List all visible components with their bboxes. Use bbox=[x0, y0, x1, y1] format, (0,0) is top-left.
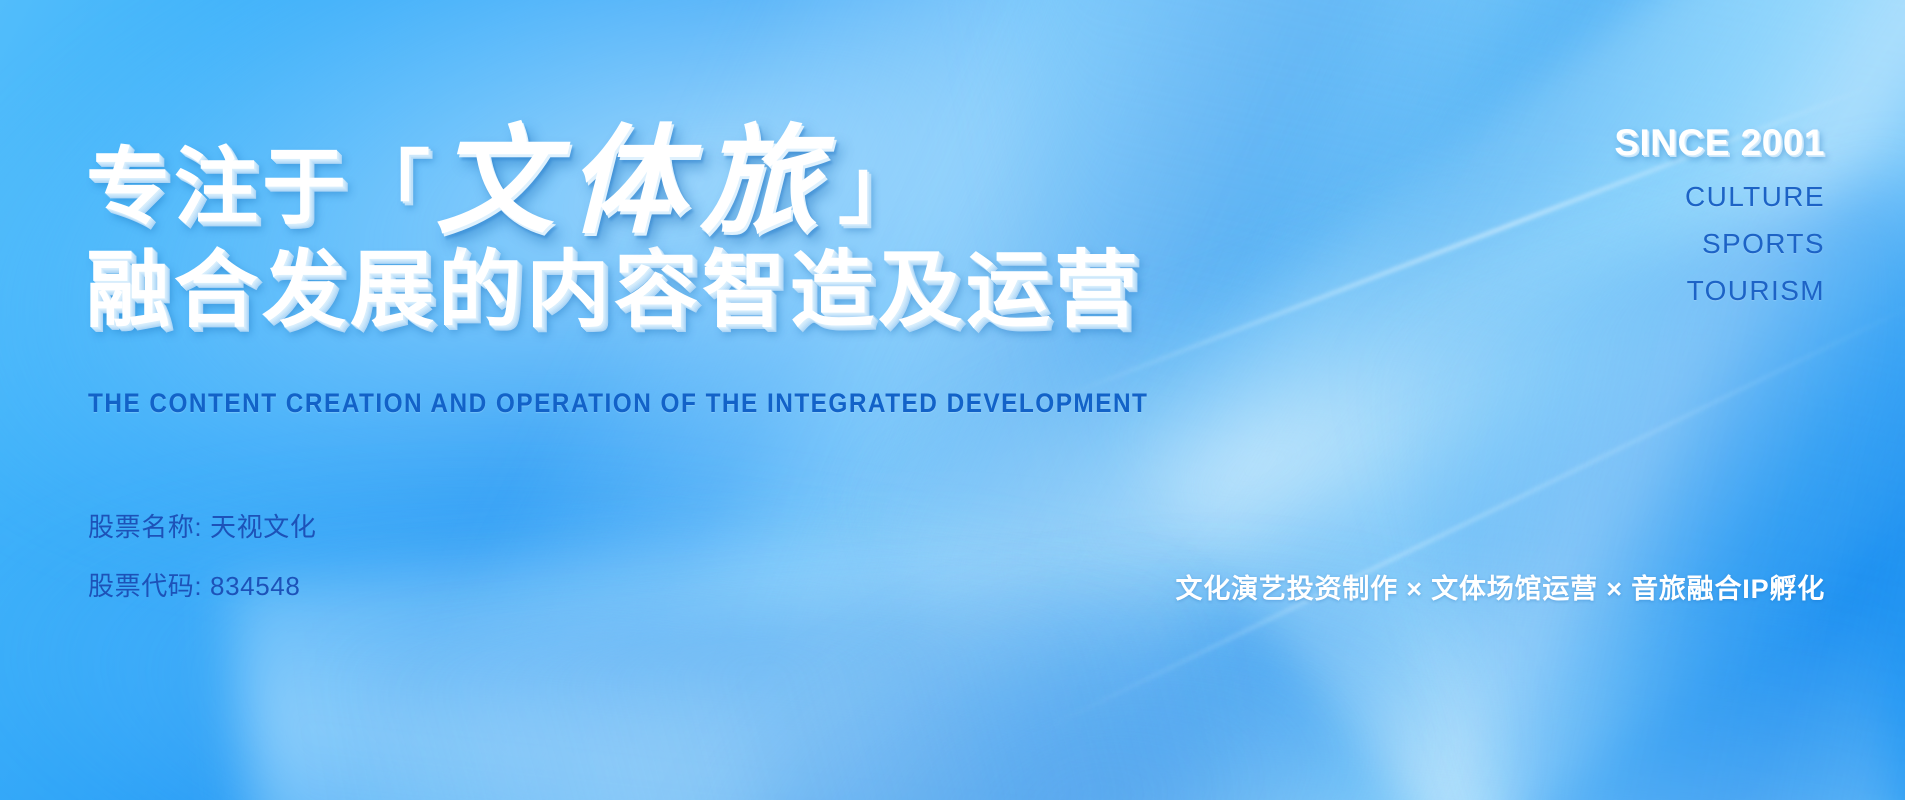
headline-prefix: 专注于 bbox=[86, 145, 350, 229]
stock-name-line: 股票名称: 天视文化 bbox=[88, 507, 316, 544]
headline-brush-keyword: 文体旅 bbox=[436, 124, 832, 242]
background-wave-hairline-2 bbox=[1040, 295, 1905, 732]
headline-bracket-open: 「 bbox=[350, 149, 430, 229]
headline-bracket-close: 」 bbox=[838, 149, 918, 229]
stock-info-block: 股票名称: 天视文化 股票代码: 834548 bbox=[88, 507, 316, 603]
background-wave-sweep-low-2 bbox=[229, 413, 1905, 800]
keyword-culture: CULTURE bbox=[1614, 181, 1825, 213]
business-tagline: 文化演艺投资制作 × 文体场馆运营 × 音旅融合IP孵化 bbox=[1176, 567, 1825, 606]
background-wave-fold-c bbox=[1105, 0, 1905, 800]
since-label: SINCE 2001 bbox=[1614, 122, 1825, 164]
stock-code-line: 股票代码: 834548 bbox=[88, 566, 316, 603]
keyword-sports: SPORTS bbox=[1614, 228, 1825, 260]
keyword-tourism: TOURISM bbox=[1614, 275, 1825, 307]
headline-subtitle-english: THE CONTENT CREATION AND OPERATION OF TH… bbox=[88, 388, 1148, 419]
headline-line-1: 专注于 「 文体旅 」 bbox=[86, 118, 1142, 236]
headline-line-2-text: 融合发展的内容智造及运营 bbox=[86, 248, 1142, 332]
promotional-banner: 专注于 「 文体旅 」 融合发展的内容智造及运营 THE CONTENT CRE… bbox=[0, 0, 1905, 800]
background-wave-top-glow bbox=[0, 0, 1700, 754]
right-keyword-column: SINCE 2001 CULTURE SPORTS TOURISM bbox=[1614, 122, 1825, 307]
headline-line-2: 融合发展的内容智造及运营 bbox=[86, 248, 1142, 332]
background-wave-bottom-dark bbox=[333, 570, 1230, 800]
headline-block: 专注于 「 文体旅 」 融合发展的内容智造及运营 bbox=[86, 118, 1142, 332]
